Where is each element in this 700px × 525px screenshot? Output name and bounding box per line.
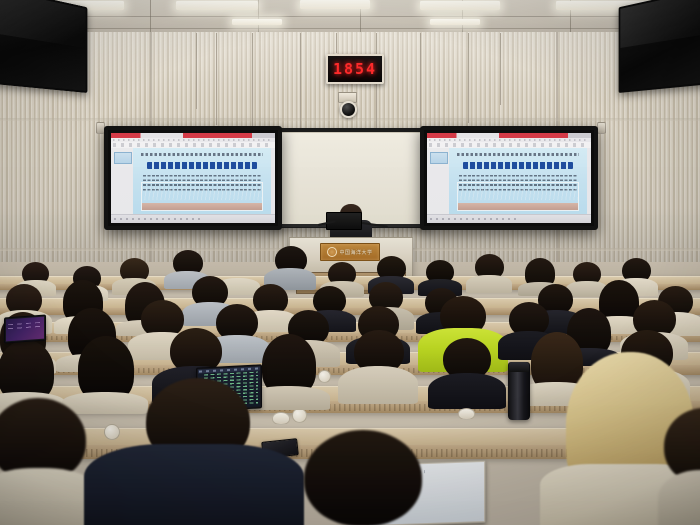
hanging-cable bbox=[196, 33, 197, 109]
head bbox=[304, 430, 422, 525]
hanging-cable bbox=[336, 33, 337, 53]
presentation-screen-right[interactable] bbox=[420, 126, 598, 230]
laptop-purple-screen[interactable] bbox=[4, 315, 46, 344]
navy-jacket-foreground-attendee bbox=[84, 378, 304, 525]
hanging-cable bbox=[216, 33, 217, 125]
audience-member bbox=[264, 246, 316, 288]
screen-content-left bbox=[111, 133, 275, 223]
hanging-cable bbox=[252, 33, 253, 129]
app-statusbar bbox=[427, 214, 591, 223]
slide-thumbnail[interactable] bbox=[114, 152, 132, 164]
side-monitor-right[interactable] bbox=[619, 0, 700, 93]
ceiling-light bbox=[232, 19, 282, 25]
slide-thumbnail-pane[interactable] bbox=[427, 148, 450, 215]
shoulders bbox=[338, 366, 418, 404]
wall-speaker bbox=[597, 122, 606, 134]
white-mouse[interactable] bbox=[458, 408, 475, 420]
presentation-screen-left[interactable] bbox=[104, 126, 282, 230]
university-crest-icon bbox=[327, 247, 337, 257]
hanging-cable bbox=[420, 33, 421, 127]
slide-canvas bbox=[133, 148, 271, 215]
shoulders bbox=[84, 444, 304, 525]
clock-digits: 1854 bbox=[333, 60, 377, 78]
slide-thumbnail[interactable] bbox=[430, 152, 448, 164]
audience-member bbox=[428, 338, 506, 406]
hanging-cable bbox=[300, 33, 301, 133]
hanging-cable bbox=[468, 33, 469, 123]
slide-thumbnail-pane[interactable] bbox=[111, 148, 134, 215]
ceiling-light bbox=[430, 19, 480, 25]
slide-ocean-photo bbox=[457, 182, 578, 211]
slide-ocean-photo bbox=[141, 182, 262, 211]
shoulders bbox=[658, 470, 700, 525]
screen-content-right bbox=[427, 133, 591, 223]
screen-glare bbox=[0, 0, 86, 48]
shoreline bbox=[458, 203, 577, 210]
digital-wall-clock: 1854 bbox=[326, 54, 384, 84]
side-monitor-left[interactable] bbox=[0, 0, 87, 93]
slide-kicker-text bbox=[457, 153, 578, 156]
vertical-scrollbar[interactable] bbox=[587, 148, 591, 215]
shoulders bbox=[466, 275, 512, 293]
lecture-hall-photo: 1854 bbox=[0, 0, 700, 525]
ceiling bbox=[0, 0, 700, 34]
shoulders bbox=[428, 373, 506, 409]
hanging-cable bbox=[500, 33, 501, 105]
slide-kicker-text bbox=[141, 153, 262, 156]
water-highlight bbox=[458, 187, 577, 200]
audience-member bbox=[466, 254, 512, 290]
slide-heading-text bbox=[147, 162, 257, 169]
foreground-attendee-center bbox=[282, 430, 442, 525]
foreground-attendee-right-edge bbox=[664, 408, 700, 525]
ceiling-light bbox=[300, 0, 370, 9]
water-highlight bbox=[142, 187, 261, 200]
ceiling-light bbox=[176, 1, 258, 10]
screen-glare bbox=[620, 0, 700, 48]
audience-member bbox=[338, 330, 418, 400]
slide-canvas bbox=[449, 148, 587, 215]
black-thermos-bottle bbox=[508, 362, 530, 420]
laptop-screen[interactable] bbox=[6, 317, 44, 342]
app-statusbar bbox=[111, 214, 275, 223]
vertical-scrollbar[interactable] bbox=[271, 148, 275, 215]
dome-camera-icon bbox=[340, 101, 357, 118]
plaque-label: 中国海洋大学 bbox=[339, 249, 372, 256]
ceiling-light bbox=[420, 1, 500, 10]
shoreline bbox=[142, 203, 261, 210]
bottle-cap bbox=[509, 362, 528, 372]
slide-heading-text bbox=[463, 162, 573, 169]
laptop-lid bbox=[4, 315, 46, 344]
